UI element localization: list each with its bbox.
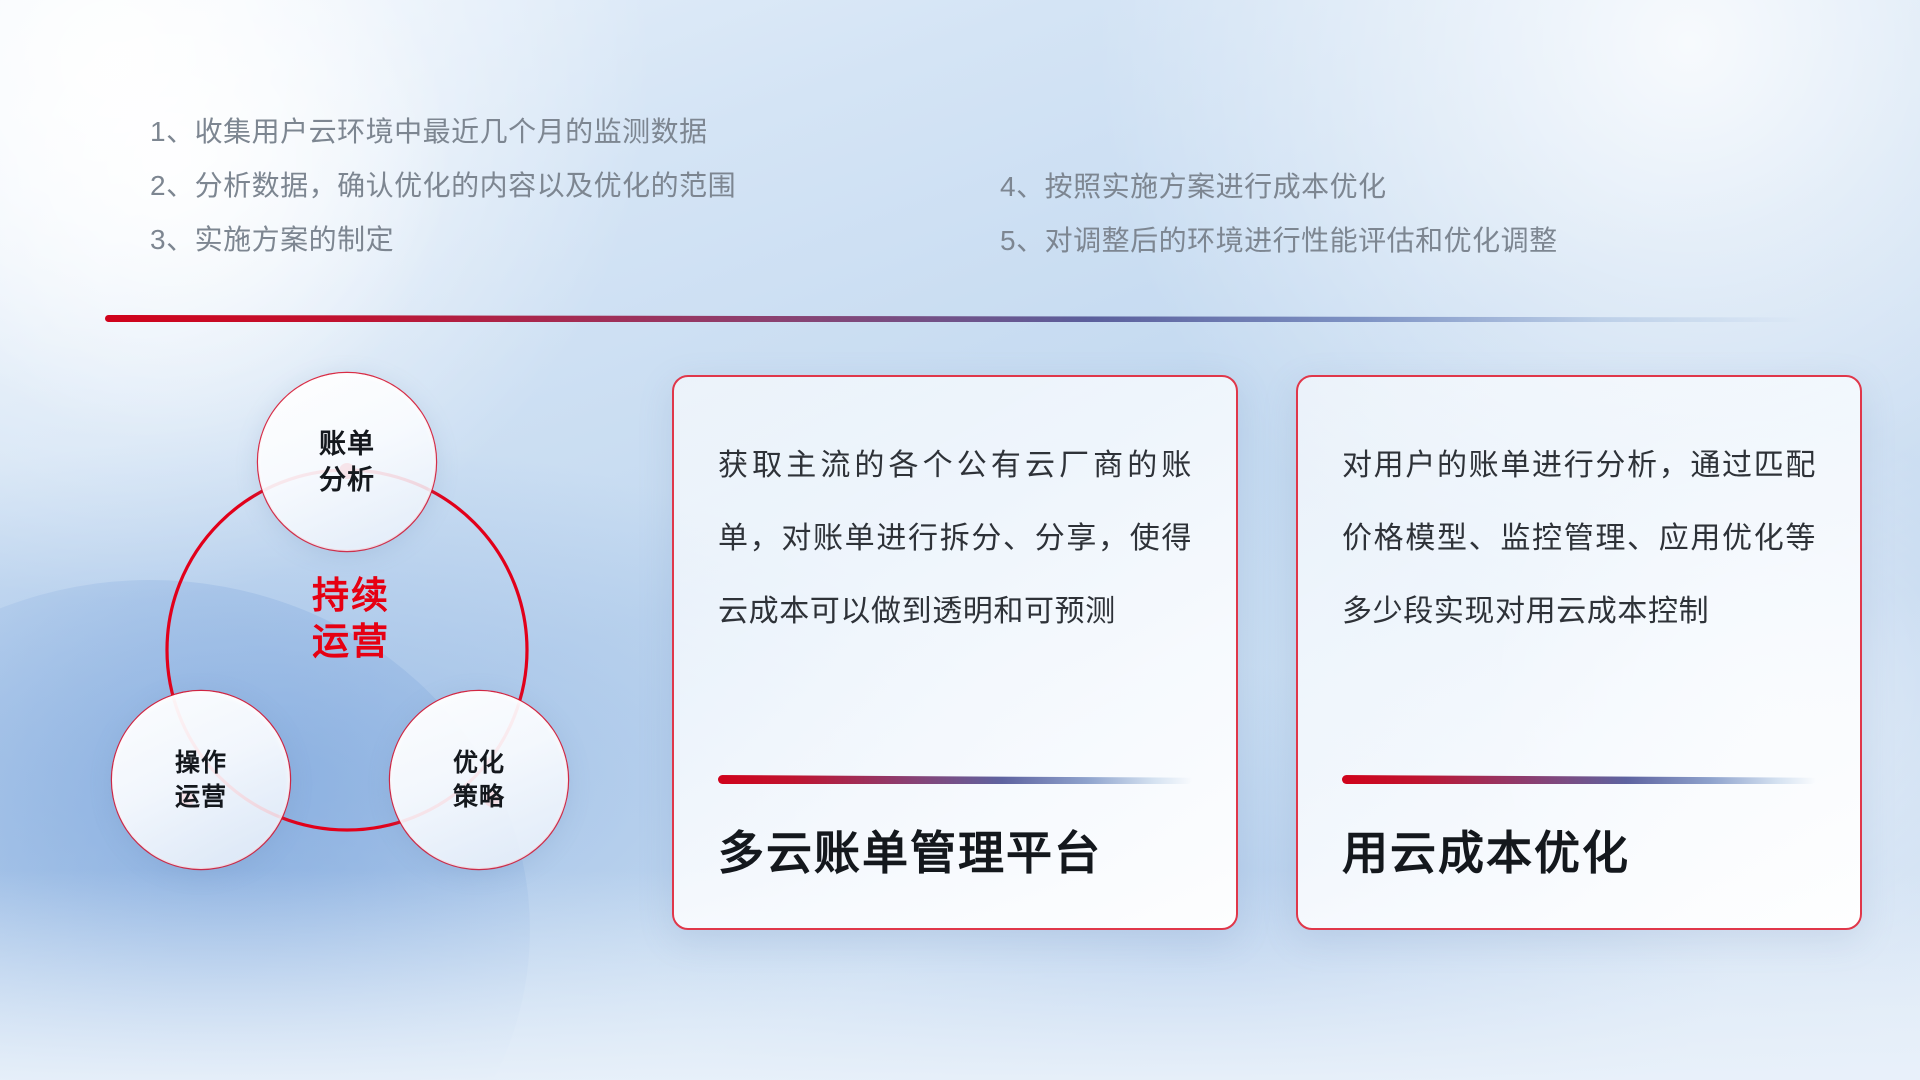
diagram-bubble-bill-analysis[interactable]: 账单 分析	[258, 373, 436, 551]
card-multi-cloud-billing-platform[interactable]: 获取主流的各个公有云厂商的账单，对账单进行拆分、分享，使得云成本可以做到透明和可…	[672, 375, 1238, 930]
card-title: 用云成本优化	[1342, 824, 1816, 882]
card-divider-bar	[718, 775, 1192, 784]
card-divider-bar	[1342, 775, 1816, 784]
bubble-label-line2: 策略	[453, 780, 505, 814]
steps-list-region: 1、收集用户云环境中最近几个月的监测数据 2、分析数据，确认优化的内容以及优化的…	[0, 0, 1920, 300]
diagram-center-label: 持续 运营	[266, 573, 436, 665]
list-item: 4、按照实施方案进行成本优化	[1000, 160, 1558, 214]
steps-list-left: 1、收集用户云环境中最近几个月的监测数据 2、分析数据，确认优化的内容以及优化的…	[150, 105, 736, 267]
list-item: 2、分析数据，确认优化的内容以及优化的范围	[150, 159, 736, 213]
center-label-line2: 运营	[266, 619, 436, 665]
diagram-bubble-optimization-strategy[interactable]: 优化 策略	[390, 691, 568, 869]
card-body-text: 对用户的账单进行分析，通过匹配价格模型、监控管理、应用优化等多少段实现对用云成本…	[1342, 429, 1816, 648]
card-cloud-cost-optimization[interactable]: 对用户的账单进行分析，通过匹配价格模型、监控管理、应用优化等多少段实现对用云成本…	[1296, 375, 1862, 930]
list-item: 5、对调整后的环境进行性能评估和优化调整	[1000, 214, 1558, 268]
continuous-operation-diagram: 账单 分析 操作 运营 优化 策略 持续 运营	[100, 355, 640, 955]
bubble-label-line2: 运营	[175, 780, 227, 814]
list-item: 1、收集用户云环境中最近几个月的监测数据	[150, 105, 736, 159]
card-title: 多云账单管理平台	[718, 824, 1192, 882]
diagram-bubble-operation[interactable]: 操作 运营	[112, 691, 290, 869]
steps-list-right: 4、按照实施方案进行成本优化 5、对调整后的环境进行性能评估和优化调整	[1000, 160, 1558, 268]
list-item: 3、实施方案的制定	[150, 213, 736, 267]
center-label-line1: 持续	[266, 573, 436, 619]
bubble-label-line1: 账单	[319, 426, 375, 462]
bubble-label-line2: 分析	[319, 462, 375, 498]
feature-cards: 获取主流的各个公有云厂商的账单，对账单进行拆分、分享，使得云成本可以做到透明和可…	[672, 375, 1862, 935]
bubble-label-line1: 优化	[453, 746, 505, 780]
bubble-label-line1: 操作	[175, 746, 227, 780]
card-body-text: 获取主流的各个公有云厂商的账单，对账单进行拆分、分享，使得云成本可以做到透明和可…	[718, 429, 1192, 648]
